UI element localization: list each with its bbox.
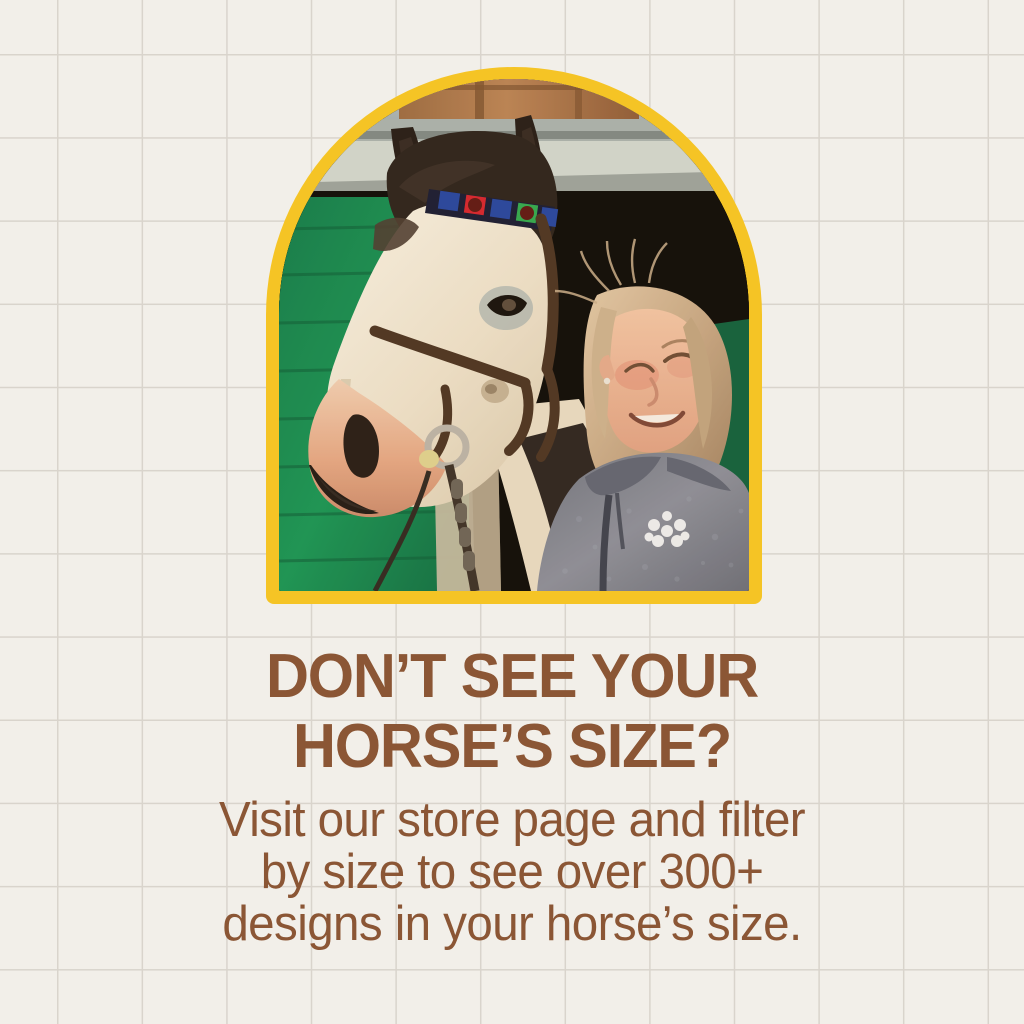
headline-line-2: HORSE’S SIZE? (20, 712, 1003, 782)
body-line-3: designs in your horse’s size. (15, 898, 1008, 950)
body-line-2: by size to see over 300+ (15, 846, 1008, 898)
text-block: DON’T SEE YOUR HORSE’S SIZE? Visit our s… (0, 636, 1024, 950)
stable-photo (279, 79, 749, 591)
photo-container (279, 79, 749, 591)
poster-canvas: DON’T SEE YOUR HORSE’S SIZE? Visit our s… (0, 0, 1024, 1024)
headline-line-1: DON’T SEE YOUR (20, 636, 1003, 712)
body-line-1: Visit our store page and filter (15, 782, 1008, 846)
arch-photo-frame (266, 67, 762, 604)
